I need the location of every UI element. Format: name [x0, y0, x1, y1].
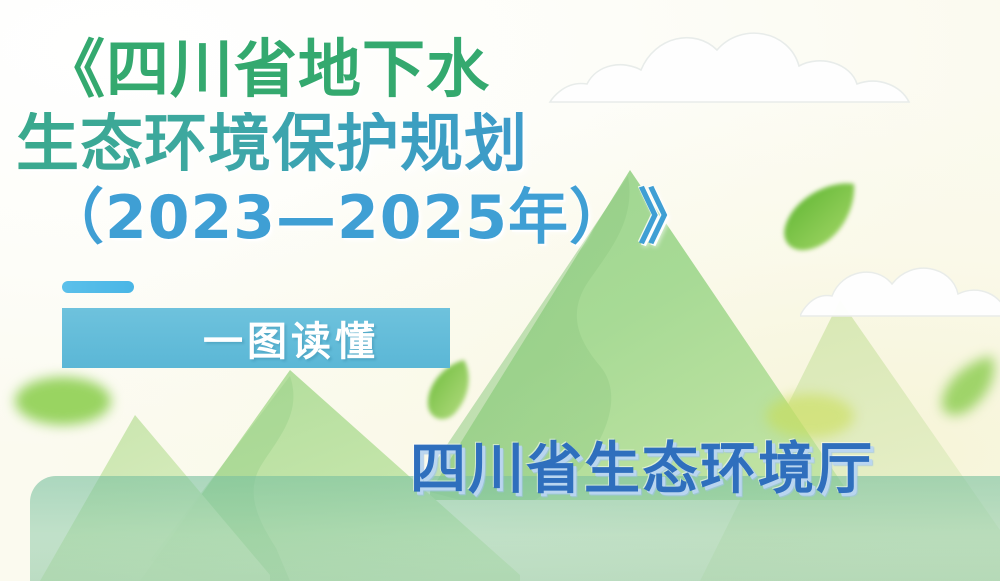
infographic-poster: 《四川省地下水 生态环境保护规划 （2023—2025年）》 一图读懂 四川省生…: [0, 0, 1000, 581]
leaf-left-soft-icon: [8, 368, 118, 434]
leaf-badge-right-icon: [420, 358, 480, 428]
organization-name: 四川省生态环境厅: [410, 424, 874, 505]
water-panel-shade: [30, 535, 1000, 581]
title-line-2: 生态环境保护规划: [16, 112, 528, 175]
title-closing-guillemet: 》: [638, 183, 699, 253]
badge-label: 一图读懂: [133, 309, 379, 367]
leaf-right-edge-icon: [930, 352, 1000, 422]
cloud-mid-right: [800, 228, 1000, 328]
leaf-top-right-icon: [776, 178, 866, 258]
title-line-3-text: （2023—2025年）: [44, 183, 600, 253]
cloud-top-right: [545, 10, 965, 120]
read-in-one-chart-badge[interactable]: 一图读懂: [62, 308, 450, 368]
title-line-1: 《四川省地下水: [42, 38, 490, 101]
accent-bar: [62, 281, 134, 293]
title-line-3: （2023—2025年）》: [44, 188, 699, 248]
